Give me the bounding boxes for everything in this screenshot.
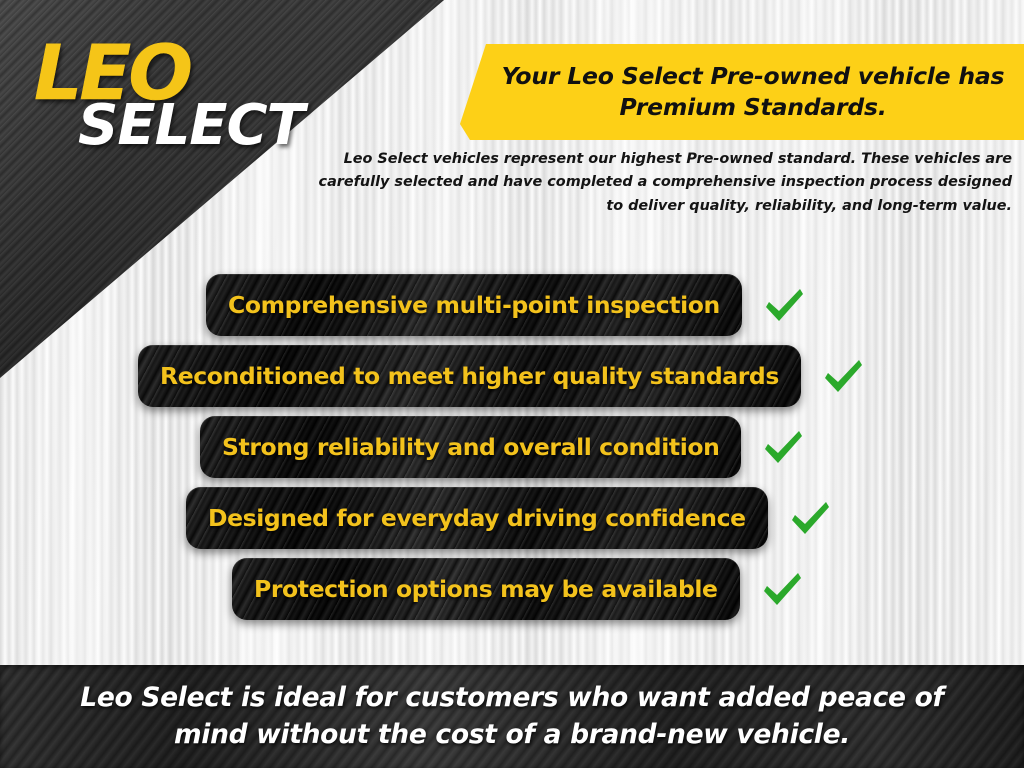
feature-pill: Reconditioned to meet higher quality sta… <box>138 345 801 407</box>
feature-row: Comprehensive multi-point inspection <box>0 268 1024 342</box>
feature-label: Protection options may be available <box>254 575 718 603</box>
feature-pill: Comprehensive multi-point inspection <box>206 274 742 336</box>
headline-text: Your Leo Select Pre-owned vehicle has Pr… <box>460 61 1024 122</box>
feature-label: Designed for everyday driving confidence <box>208 504 746 532</box>
leo-select-logo: LEO SELECT <box>34 38 334 154</box>
feature-row: Strong reliability and overall condition <box>0 410 1024 484</box>
logo-select-text: SELECT <box>78 98 334 154</box>
footer-bar: Leo Select is ideal for customers who wa… <box>0 665 1024 768</box>
leo-select-poster: LEO SELECT Your Leo Select Pre-owned veh… <box>0 0 1024 768</box>
feature-pill: Strong reliability and overall condition <box>200 416 741 478</box>
green-check-icon <box>756 563 808 615</box>
feature-label: Comprehensive multi-point inspection <box>228 291 720 319</box>
green-check-icon <box>758 279 810 331</box>
feature-label: Strong reliability and overall condition <box>222 433 719 461</box>
green-check-icon <box>817 350 869 402</box>
green-check-icon <box>757 421 809 473</box>
feature-row: Designed for everyday driving confidence <box>0 481 1024 555</box>
green-check-icon <box>784 492 836 544</box>
feature-row: Reconditioned to meet higher quality sta… <box>0 339 1024 413</box>
feature-list: Comprehensive multi-point inspection Rec… <box>0 268 1024 623</box>
headline-banner: Your Leo Select Pre-owned vehicle has Pr… <box>460 44 1024 140</box>
footer-text: Leo Select is ideal for customers who wa… <box>47 680 977 753</box>
intro-paragraph: Leo Select vehicles represent our highes… <box>312 148 1012 218</box>
feature-pill: Designed for everyday driving confidence <box>186 487 768 549</box>
feature-label: Reconditioned to meet higher quality sta… <box>160 362 779 390</box>
feature-pill: Protection options may be available <box>232 558 740 620</box>
feature-row: Protection options may be available <box>0 552 1024 626</box>
